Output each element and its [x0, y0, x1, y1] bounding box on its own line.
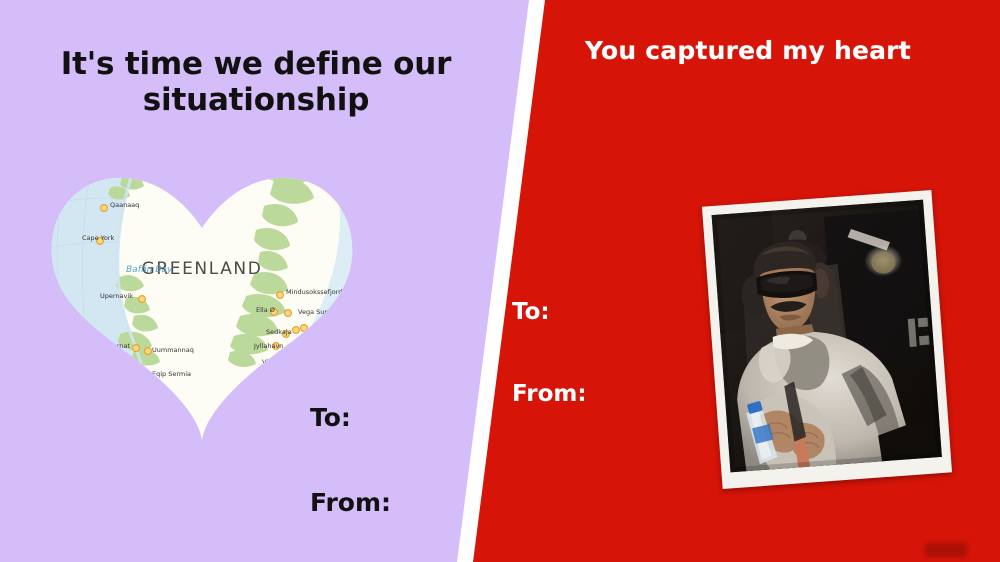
map-place-label: Jyllahavn — [253, 342, 283, 350]
map-place-label: Mindusokssefjord — [286, 288, 342, 296]
map-place-label: Eqip Sermia — [152, 370, 191, 378]
map-place-label: Viker — [262, 358, 279, 366]
map-place-label: Sedkaja — [266, 328, 292, 336]
map-sea-label: Greenland Sea — [310, 169, 356, 179]
polaroid-photo — [712, 200, 942, 473]
map-contents: GREENLAND Baffin BayGreenland Sea Qaanaa… — [48, 152, 356, 440]
map-place-label: Uummannaq — [152, 346, 194, 354]
map-place-label: Upernavik — [100, 292, 133, 300]
map-place-label: Qaanaaq — [110, 201, 139, 209]
left-card-from-label: From: — [310, 488, 391, 517]
valentine-card-pair: It's time we define our situationship — [0, 0, 1000, 562]
left-card-to-label: To: — [310, 403, 351, 432]
right-card-headline: You captured my heart — [585, 36, 911, 65]
left-card-headline: It's time we define our situationship — [46, 46, 466, 119]
corner-artifact — [925, 543, 967, 557]
polaroid-frame — [702, 190, 952, 489]
right-card-from-label: From: — [512, 381, 587, 407]
map-sea-label: Baffin Bay — [126, 265, 173, 275]
map-place-label: Cape York — [82, 234, 114, 242]
right-card-to-label: To: — [512, 299, 550, 325]
heart-shaped-greenland-map: GREENLAND Baffin BayGreenland Sea Qaanaa… — [48, 152, 356, 440]
map-place-label: Vega Sund — [298, 308, 333, 316]
map-place-label: Ella Ø — [256, 306, 275, 314]
map-place-label: Niaqornat — [98, 342, 130, 350]
